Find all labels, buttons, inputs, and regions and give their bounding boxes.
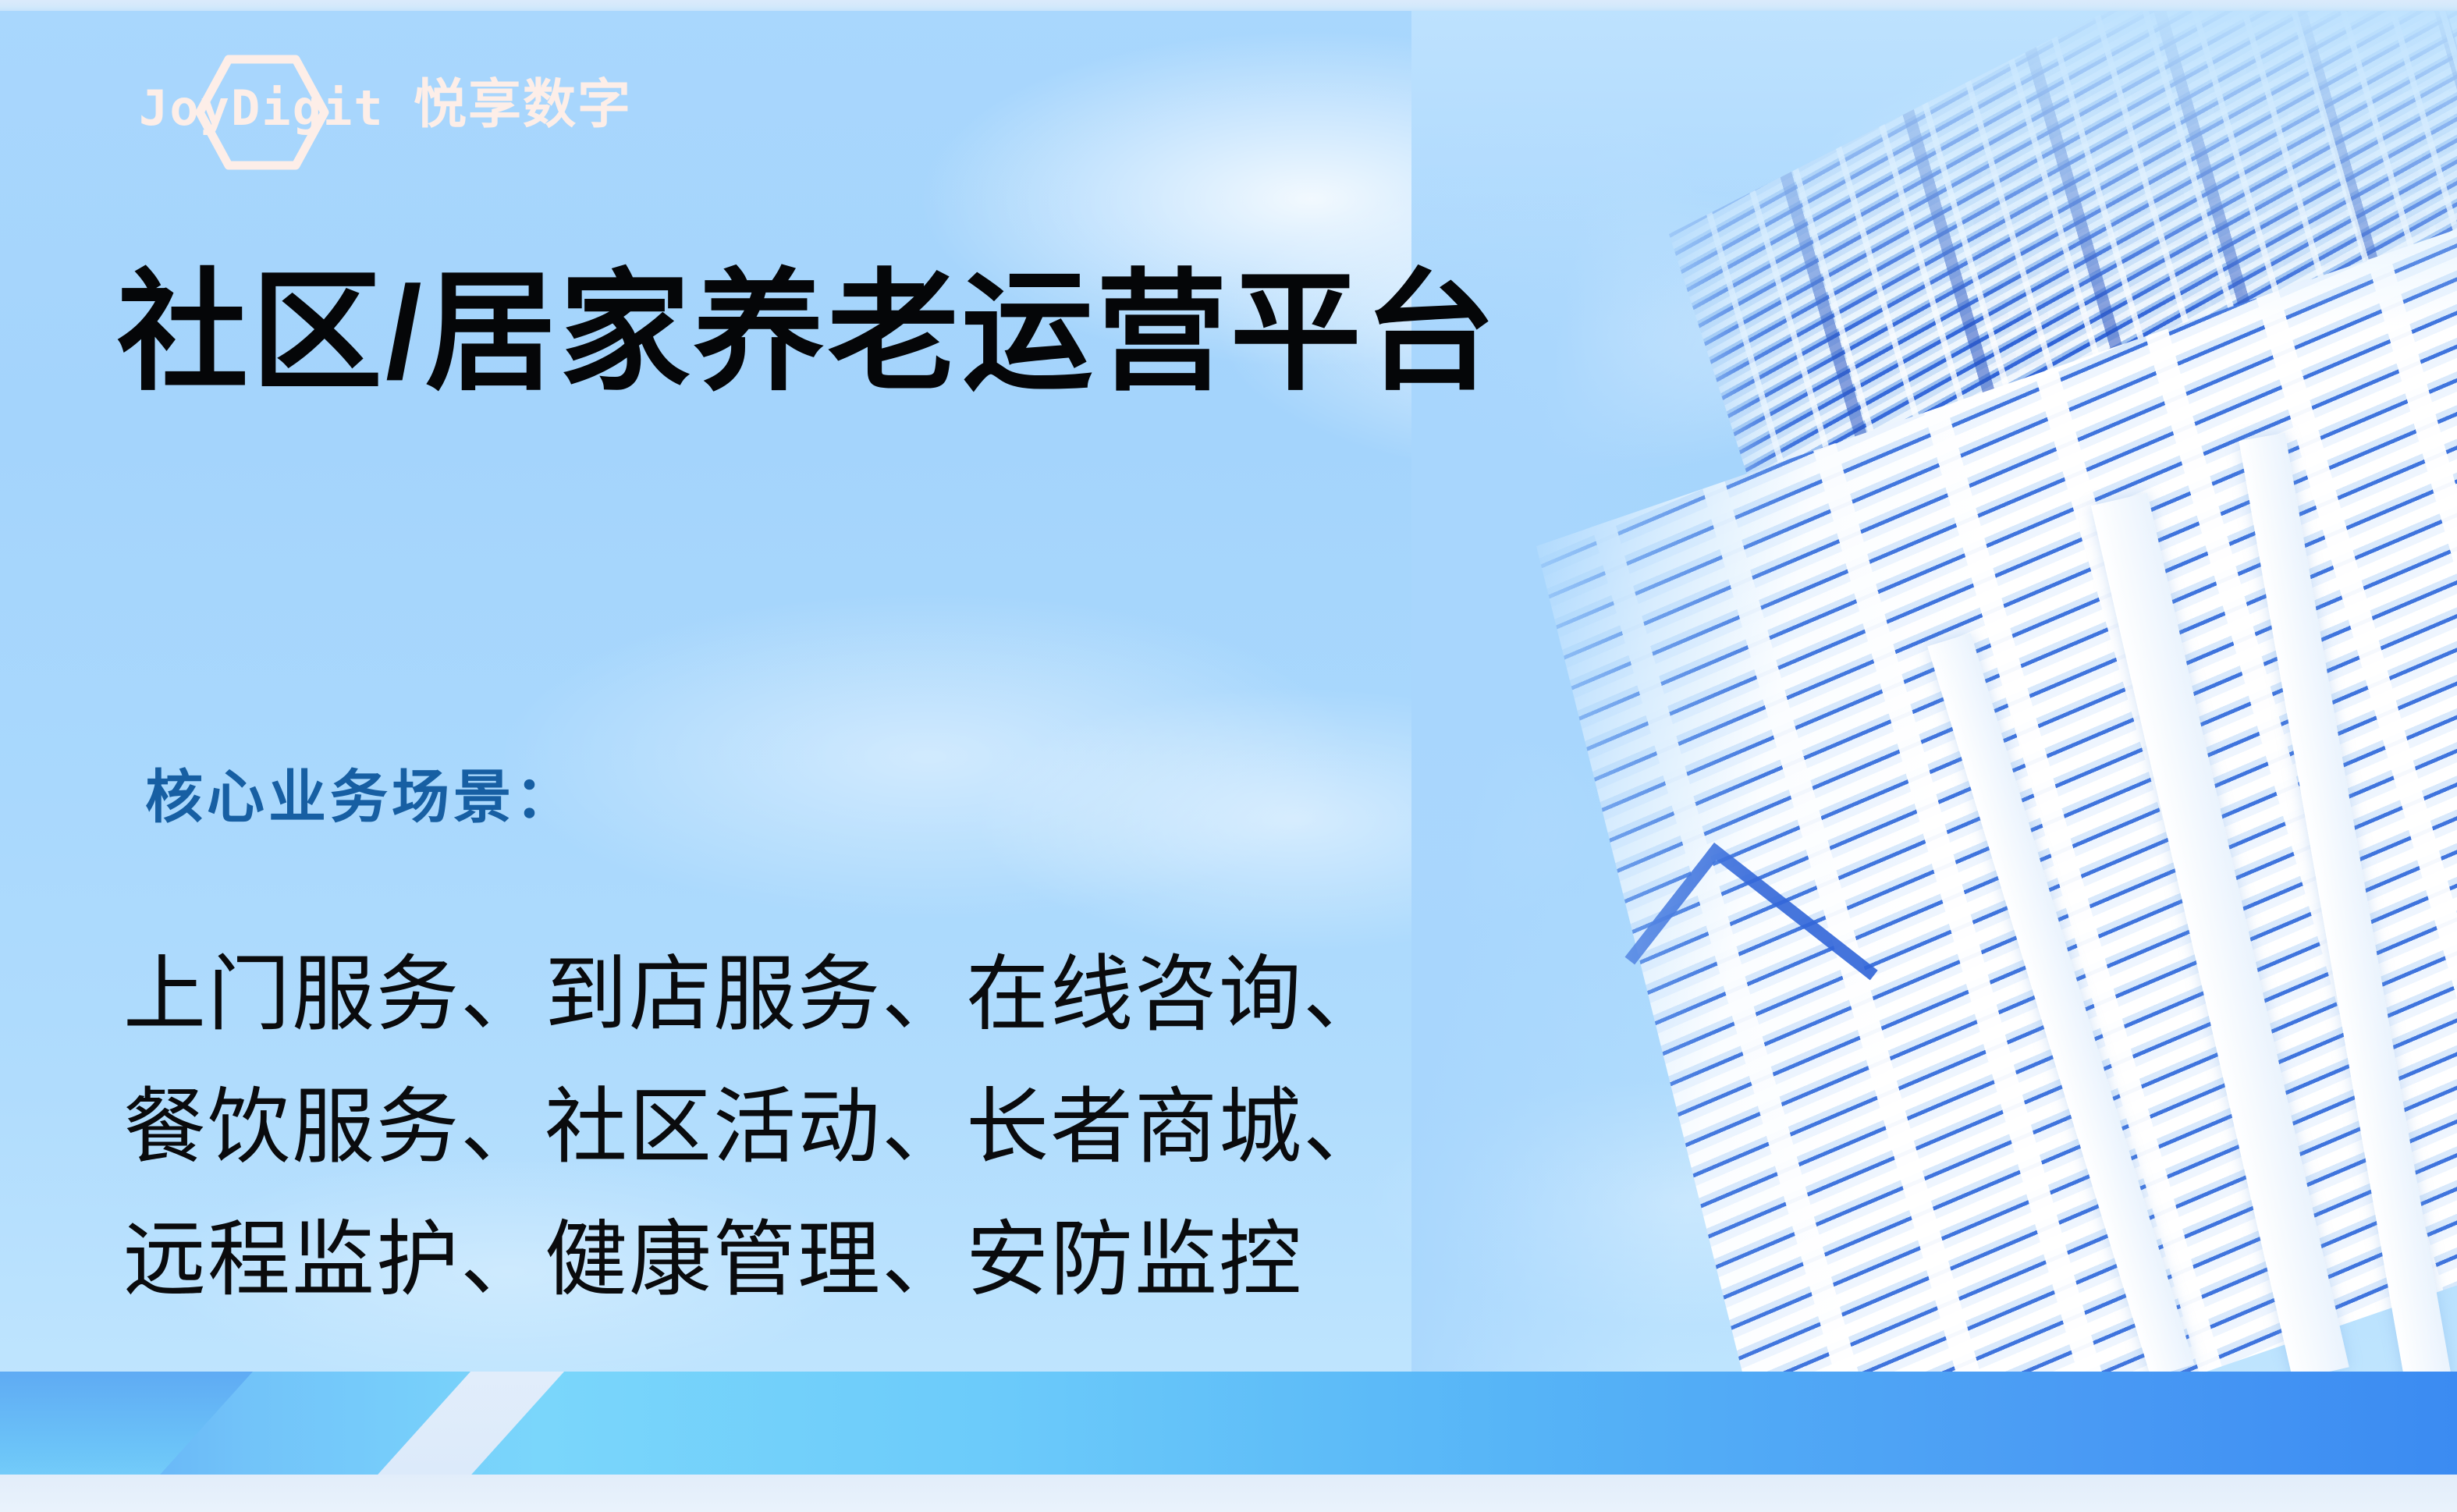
scenario-line: 餐饮服务、社区活动、长者商城、	[123, 1061, 1387, 1194]
brand-wordmark-cn: 悦享数字	[414, 78, 632, 131]
bottom-ribbon	[0, 1372, 2457, 1475]
top-edge-strip	[0, 0, 2457, 11]
page-title: 社区/居家养老运营平台	[117, 257, 1499, 408]
brand-wordmark: JoyDigit	[139, 84, 385, 133]
brand-logo: JoyDigit 悦享数字	[139, 61, 701, 170]
footer-strip	[0, 1475, 2457, 1512]
scenario-line: 上门服务、到店服务、在线咨询、	[123, 928, 1387, 1061]
scenario-line: 远程监护、健康管理、安防监控	[123, 1194, 1387, 1326]
ribbon-gradient	[0, 1372, 2457, 1475]
scenario-list: 上门服务、到店服务、在线咨询、 餐饮服务、社区活动、长者商城、 远程监护、健康管…	[123, 928, 1387, 1326]
presentation-banner: JoyDigit 悦享数字 社区/居家养老运营平台 核心业务场景： 上门服务、到…	[0, 0, 2457, 1512]
section-heading: 核心业务场景：	[145, 768, 577, 826]
